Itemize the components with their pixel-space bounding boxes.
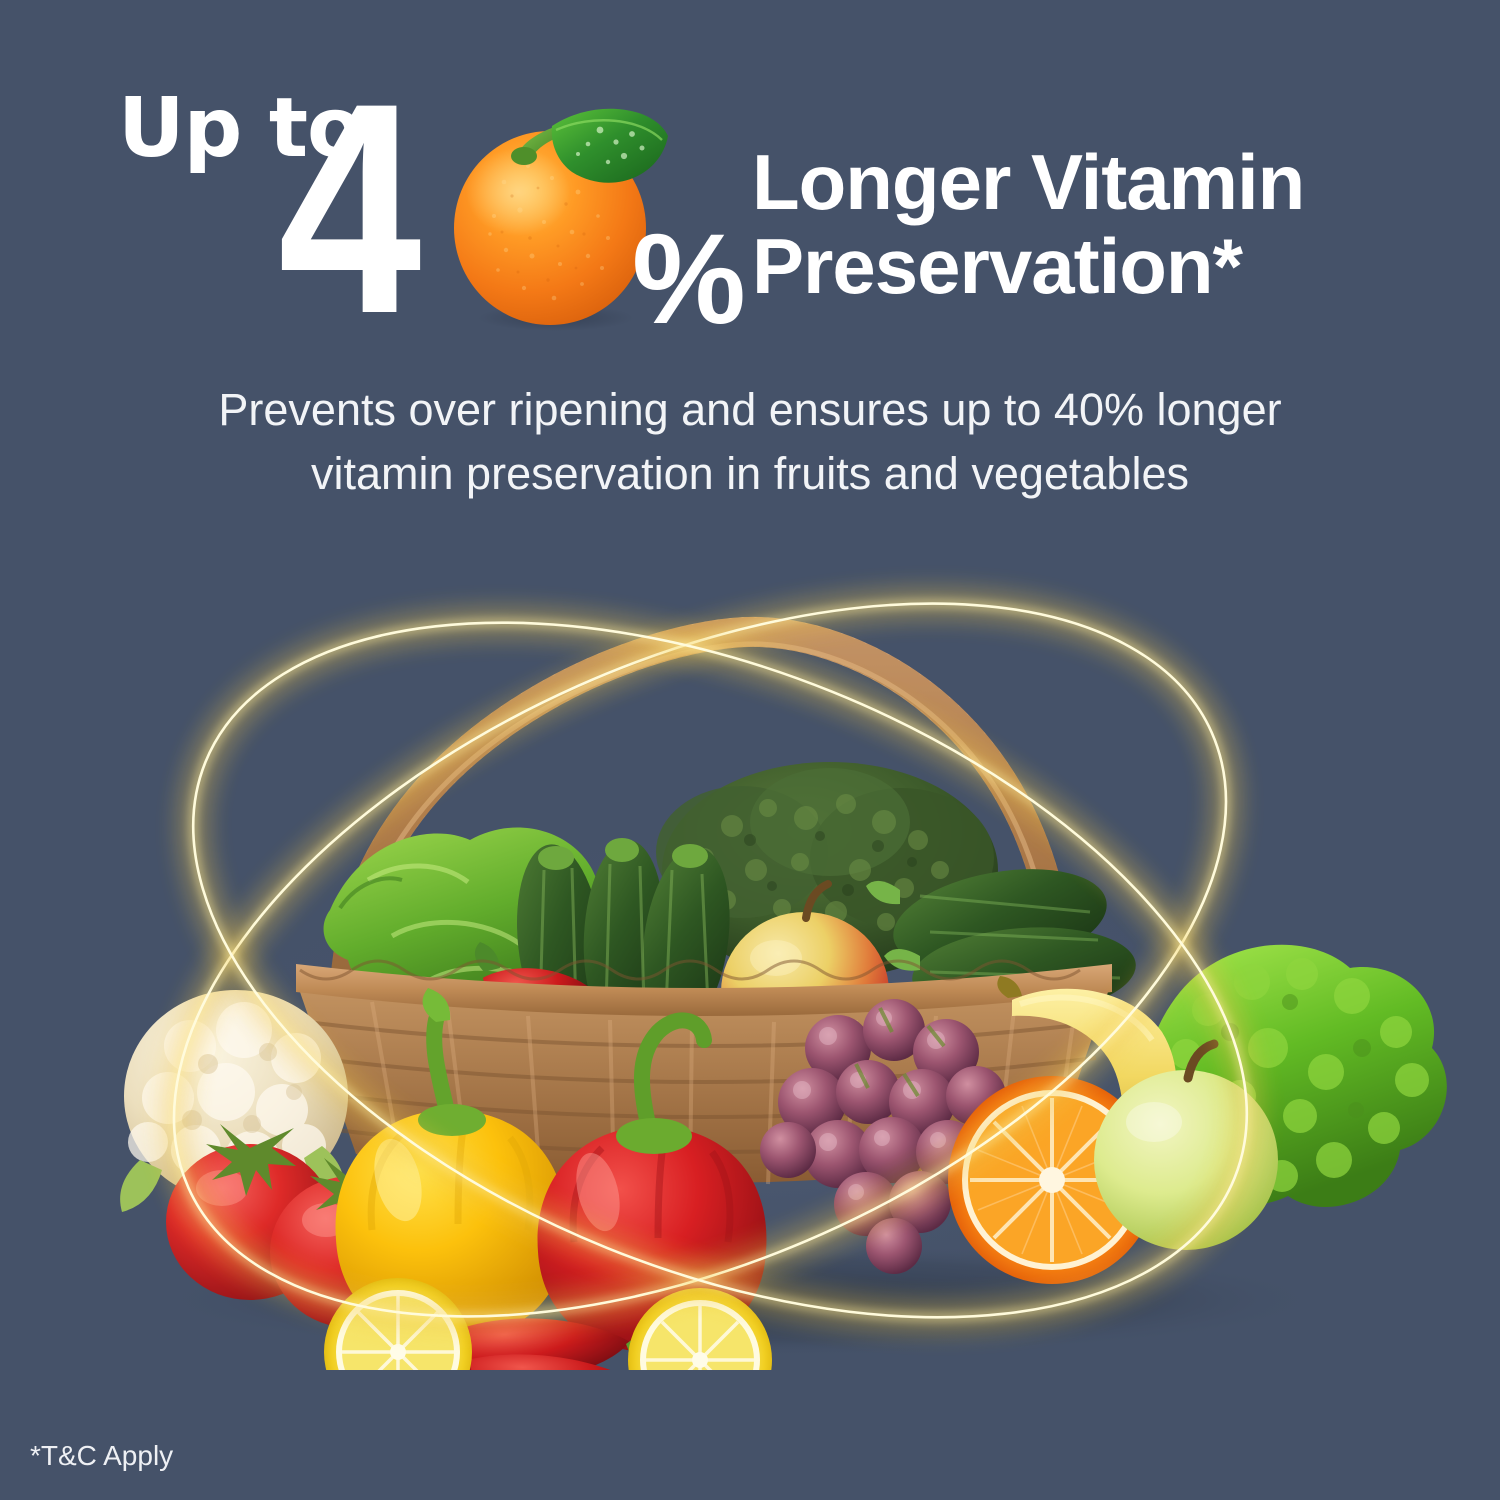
hero-image: [0, 540, 1500, 1370]
produce-basket-illustration: [0, 540, 1500, 1370]
subtitle-block: Prevents over ripening and ensures up to…: [0, 378, 1500, 506]
subtitle-line-2: vitamin preservation in fruits and veget…: [0, 442, 1500, 506]
headline-percent-sign: %: [632, 216, 746, 344]
headline-block: Up to 4: [0, 0, 1500, 360]
headline-line-1: Longer Vitamin: [752, 140, 1392, 224]
subtitle-line-1: Prevents over ripening and ensures up to…: [0, 378, 1500, 442]
headline-main-text: Longer Vitamin Preservation*: [752, 140, 1392, 308]
banner-canvas: Up to 4: [0, 0, 1500, 1500]
headline-line-2: Preservation*: [752, 224, 1392, 308]
footnote-terms: *T&C Apply: [30, 1440, 173, 1472]
headline-number: 4: [278, 58, 413, 358]
